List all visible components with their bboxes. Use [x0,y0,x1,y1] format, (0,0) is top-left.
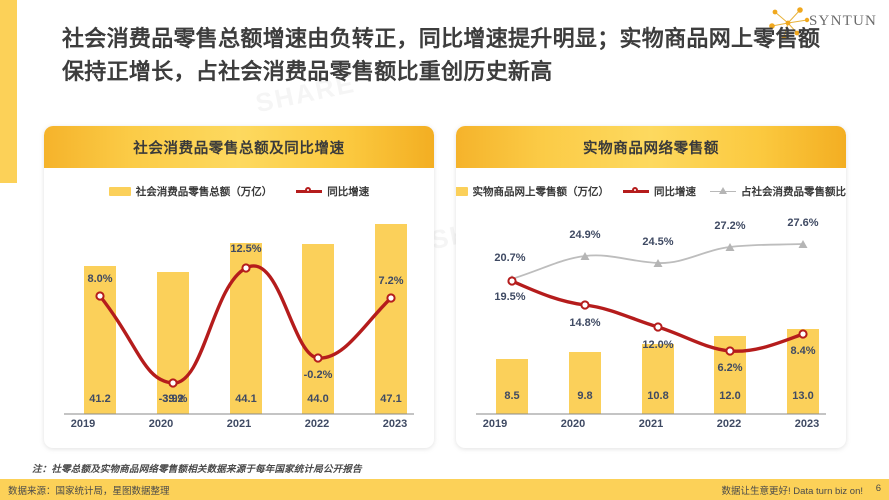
chart-card-right: 实物商品网络零售额 实物商品网上零售额（万亿） 同比增速 占社会消费品零售额比例 [456,126,846,448]
legend-label: 社会消费品零售总额（万亿） [136,184,273,199]
chart-left-plot: 8.0% -3.9% 12.5% -0.2% 7.2% 41.2 39.2 44… [44,206,434,444]
line-marker-icon [623,186,649,196]
svg-text:20.7%: 20.7% [494,252,525,264]
svg-text:41.2: 41.2 [89,393,110,405]
legend-item-bar[interactable]: 社会消费品零售总额（万亿） [109,184,273,199]
chart-card-right-title: 实物商品网络零售额 [583,137,719,158]
x-tick: 2020 [534,418,612,444]
svg-text:12.0: 12.0 [719,390,740,402]
chart-right-share-labels: 20.7% 24.9% 24.5% 27.2% 27.6% [494,217,818,264]
chart-card-left: 社会消费品零售总额及同比增速 社会消费品零售总额（万亿） 同比增速 [44,126,434,448]
chart-card-left-header: 社会消费品零售总额及同比增速 [44,126,434,168]
chart-card-right-header: 实物商品网络零售额 [456,126,846,168]
legend-item-line[interactable]: 同比增速 [296,184,369,199]
footer-slogan: 数据让生意更好! Data turn biz on! [722,483,863,497]
svg-text:8.4%: 8.4% [790,345,815,357]
chart-left-bar-labels: 41.2 39.2 44.1 44.0 47.1 [89,393,401,405]
x-tick: 2020 [122,418,200,444]
legend-item-grayline[interactable]: 占社会消费品零售额比例 [710,184,846,199]
legend-item-bar[interactable]: 实物商品网上零售额（万亿） [456,184,609,199]
svg-text:6.2%: 6.2% [717,362,742,374]
bar-swatch-icon [456,187,468,196]
svg-text:-0.2%: -0.2% [304,369,333,381]
chart-footnote: 注：社零总额及实物商品网络零售额相关数据来源于每年国家统计局公开报告 [32,461,362,475]
svg-text:44.0: 44.0 [307,393,328,405]
x-tick: 2021 [612,418,690,444]
svg-text:14.8%: 14.8% [569,317,600,329]
bar-2023 [375,224,407,414]
chart-right-svg: 20.7% 24.9% 24.5% 27.2% 27.6% 19.5% 14.8… [456,206,846,444]
legend-item-line[interactable]: 同比增速 [623,184,696,199]
gray-line-marker-icon [710,186,736,196]
svg-text:7.2%: 7.2% [378,275,403,287]
svg-text:19.5%: 19.5% [494,291,525,303]
legend-label: 同比增速 [327,184,369,199]
chart-right-legend: 实物商品网上零售额（万亿） 同比增速 占社会消费品零售额比例 [456,176,846,206]
page-footer: 数据来源：国家统计局，星图数据整理 数据让生意更好! Data turn biz… [0,479,889,500]
svg-text:13.0: 13.0 [792,390,813,402]
legend-label: 实物商品网上零售额（万亿） [473,184,610,199]
svg-text:9.8: 9.8 [577,390,592,402]
bar-2022 [302,244,334,414]
chart-left-legend: 社会消费品零售总额（万亿） 同比增速 [44,176,434,206]
svg-text:27.6%: 27.6% [787,217,818,229]
x-tick: 2021 [200,418,278,444]
chart-left-svg: 8.0% -3.9% 12.5% -0.2% 7.2% 41.2 39.2 44… [44,206,434,444]
svg-text:27.2%: 27.2% [714,220,745,232]
x-tick: 2022 [278,418,356,444]
x-tick: 2019 [44,418,122,444]
footer-page-number: 6 [876,483,881,494]
page-headline: 社会消费品零售总额增速由负转正，同比增速提升明显；实物商品网上零售额保持正增长，… [62,22,822,88]
chart-right-plot: 20.7% 24.9% 24.5% 27.2% 27.6% 19.5% 14.8… [456,206,846,444]
svg-text:39.2: 39.2 [162,393,183,405]
svg-text:24.5%: 24.5% [642,236,673,248]
bar-2019 [496,359,528,414]
chart-right-x-axis: 2019 2020 2021 2022 2023 [456,418,846,444]
line-marker-icon [296,186,322,196]
chart-card-left-title: 社会消费品零售总额及同比增速 [133,137,344,158]
x-tick: 2019 [456,418,534,444]
svg-text:12.0%: 12.0% [642,339,673,351]
left-accent-bar [0,0,17,183]
bar-swatch-icon [109,187,131,196]
legend-label: 占社会消费品零售额比例 [741,184,846,199]
chart-right-bar-labels: 8.5 9.8 10.8 12.0 13.0 [504,390,813,402]
x-tick: 2022 [690,418,768,444]
svg-text:8.0%: 8.0% [87,273,112,285]
svg-text:10.8: 10.8 [647,390,668,402]
svg-text:44.1: 44.1 [235,393,256,405]
legend-label: 同比增速 [654,184,696,199]
bar-2021 [642,344,674,414]
svg-text:8.5: 8.5 [504,390,519,402]
svg-text:24.9%: 24.9% [569,229,600,241]
svg-text:47.1: 47.1 [380,393,401,405]
footer-source: 数据来源：国家统计局，星图数据整理 [8,483,170,497]
x-tick: 2023 [356,418,434,444]
chart-left-x-axis: 2019 2020 2021 2022 2023 [44,418,434,444]
x-tick: 2023 [768,418,846,444]
bar-2019 [84,266,116,414]
svg-text:12.5%: 12.5% [230,243,261,255]
bar-2020 [569,352,601,414]
